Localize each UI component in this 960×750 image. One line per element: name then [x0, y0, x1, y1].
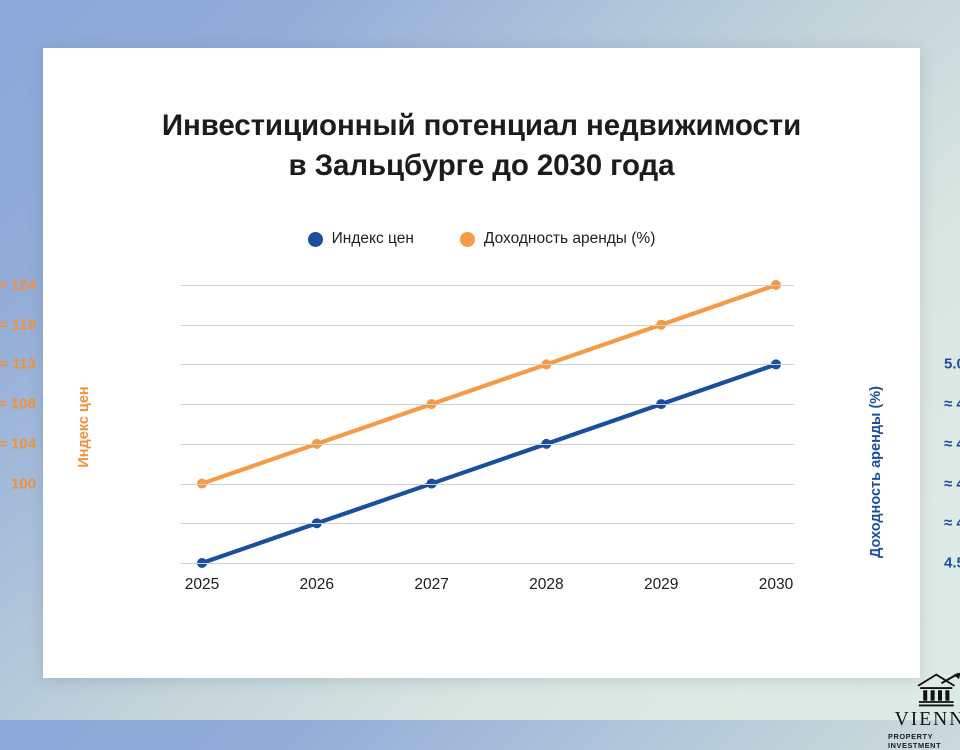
left-axis-tick: ≈ 108 — [0, 396, 36, 413]
grid-line — [180, 484, 794, 485]
chart-title-line-1: Инвестиционный потенциал недвижимости — [162, 109, 801, 142]
plot-area: ≈ 124≈ 118≈ 113≈ 108≈ 1041005.0%≈ 4.9%≈ … — [180, 285, 794, 563]
legend-label: Доходность аренды (%) — [484, 230, 655, 248]
right-axis-title: Доходность аренды (%) — [868, 386, 884, 558]
legend-item-price-index[interactable]: Индекс цен — [308, 230, 414, 248]
logo-name: VIENNA — [895, 710, 960, 730]
right-axis-tick: 4.5% — [944, 555, 960, 572]
series-line — [202, 285, 776, 484]
x-axis-tick: 2029 — [644, 576, 678, 594]
left-axis-title: Индекс цен — [76, 386, 92, 467]
grid-line — [180, 364, 794, 365]
x-axis-labels: 202520262027202820292030 — [180, 576, 794, 600]
grid-line — [180, 325, 794, 326]
right-axis-tick: ≈ 4.7% — [944, 475, 960, 492]
series-layer — [180, 285, 794, 563]
grid-line — [180, 444, 794, 445]
logo-tagline: PROPERTY INVESTMENT — [888, 732, 960, 750]
right-axis-tick: ≈ 4.6% — [944, 515, 960, 532]
chart-title-line-2: в Зальцбурге до 2030 года — [43, 146, 920, 186]
legend-swatch-icon — [308, 232, 323, 247]
brand-logo: VIENNA PROPERTY INVESTMENT — [888, 672, 960, 750]
x-axis-tick: 2030 — [759, 576, 793, 594]
series-line — [202, 364, 776, 563]
chart-card: Инвестиционный потенциал недвижимости в … — [43, 48, 920, 678]
bank-arrow-icon — [908, 672, 960, 709]
legend-swatch-icon — [460, 232, 475, 247]
grid-line — [180, 523, 794, 524]
chart-legend: Индекс цен Доходность аренды (%) — [43, 230, 920, 248]
grid-line — [180, 285, 794, 286]
left-axis-tick: 100 — [11, 475, 36, 492]
x-axis-tick: 2027 — [414, 576, 448, 594]
right-axis-tick: ≈ 4.8% — [944, 435, 960, 452]
left-axis-tick: ≈ 104 — [0, 435, 36, 452]
chart-title: Инвестиционный потенциал недвижимости в … — [43, 106, 920, 186]
grid-line — [180, 404, 794, 405]
right-axis-tick: ≈ 4.9% — [944, 396, 960, 413]
grid-line — [180, 563, 794, 564]
right-axis-tick: 5.0% — [944, 356, 960, 373]
legend-item-rental-yield[interactable]: Доходность аренды (%) — [460, 230, 655, 248]
left-axis-tick: ≈ 118 — [0, 316, 36, 333]
left-axis-tick: ≈ 124 — [0, 277, 36, 294]
x-axis-tick: 2026 — [300, 576, 334, 594]
x-axis-tick: 2025 — [185, 576, 219, 594]
legend-label: Индекс цен — [332, 230, 414, 248]
left-axis-tick: ≈ 113 — [0, 356, 36, 373]
x-axis-tick: 2028 — [529, 576, 563, 594]
